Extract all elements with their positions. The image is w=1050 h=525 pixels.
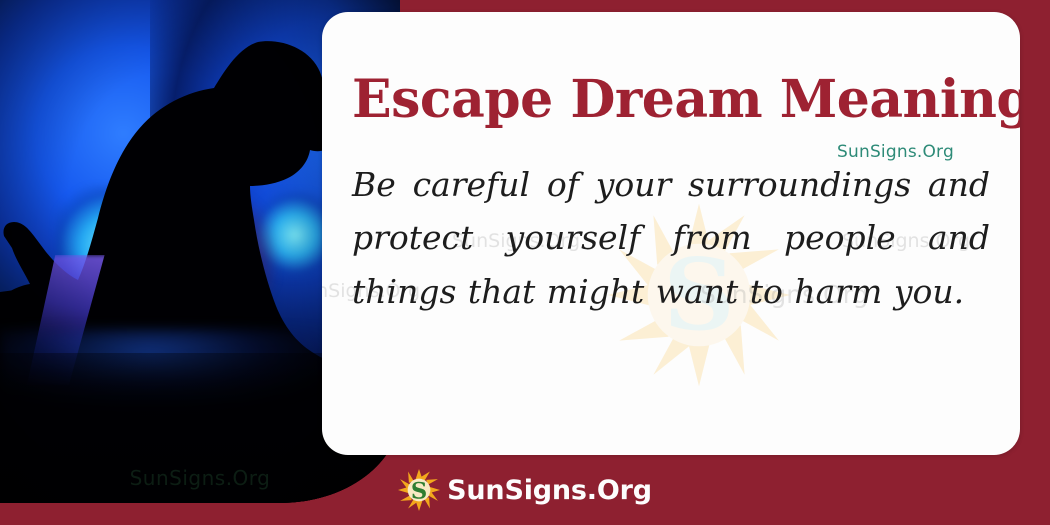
brand-logo[interactable]: S SunSigns.Org — [398, 469, 652, 511]
brand-name: SunSigns.Org — [447, 475, 652, 506]
title-watermark: SunSigns.Org — [837, 142, 954, 162]
card-content: Escape Dream Meaning Be careful of your … — [322, 12, 1020, 318]
sun-logo-icon: S — [398, 469, 440, 511]
page-title: Escape Dream Meaning — [352, 12, 990, 126]
svg-text:S: S — [411, 478, 427, 504]
content-card: S SunSigns.Org SunSigns.Org SunSigns.Org… — [322, 12, 1020, 455]
footer-bar: S SunSigns.Org — [0, 455, 1050, 525]
poster-canvas: SunSigns.Org — [0, 0, 1050, 525]
